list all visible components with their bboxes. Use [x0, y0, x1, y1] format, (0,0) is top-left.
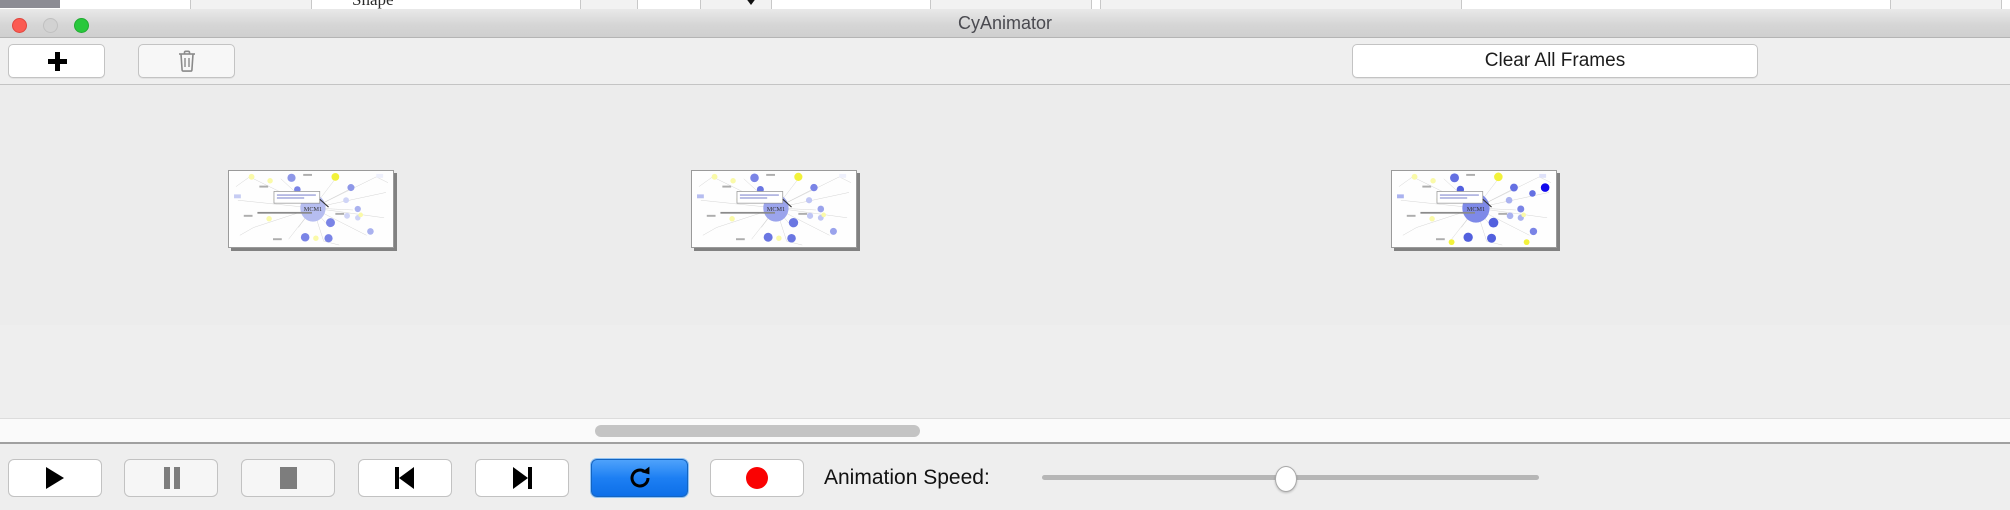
stop-icon — [280, 467, 297, 489]
frame-toolbar: Clear All Frames — [0, 38, 2010, 85]
playback-control-bar: Animation Speed: — [0, 446, 2010, 510]
timeline-scrollbar-thumb[interactable] — [595, 425, 920, 437]
loop-button[interactable] — [591, 459, 688, 497]
cyanimator-window: Shape CyAnimator Clear All Frames — [0, 0, 2010, 510]
skip-forward-icon — [512, 467, 532, 489]
clear-all-frames-label: Clear All Frames — [1485, 50, 1625, 72]
network-thumbnail-graphic: MCM1 — [1392, 171, 1556, 247]
skip-back-icon — [395, 467, 415, 489]
timeline-panel[interactable]: MCM1 — [0, 85, 2010, 325]
svg-text:MCM1: MCM1 — [1467, 206, 1485, 213]
record-icon — [746, 467, 768, 489]
plus-icon — [47, 51, 67, 71]
loop-icon — [627, 465, 653, 491]
clear-all-frames-button[interactable]: Clear All Frames — [1352, 44, 1758, 78]
trash-icon — [176, 49, 198, 73]
title-bar: CyAnimator — [0, 9, 2010, 38]
network-thumbnail-graphic: MCM1 — [692, 171, 856, 247]
delete-frame-button[interactable] — [138, 44, 235, 78]
skip-to-end-button[interactable] — [475, 459, 569, 497]
stop-button[interactable] — [241, 459, 335, 497]
frame-thumbnail-3[interactable]: MCM1 — [1391, 170, 1557, 248]
animation-speed-slider-thumb[interactable] — [1275, 466, 1297, 492]
animation-speed-label: Animation Speed: — [824, 446, 990, 510]
window-title: CyAnimator — [0, 9, 2010, 38]
play-button[interactable] — [8, 459, 102, 497]
network-thumbnail-graphic: MCM1 — [229, 171, 393, 247]
parent-window-titlebar-fragment — [0, 0, 60, 8]
pause-icon — [163, 467, 180, 489]
frame-thumbnail-2[interactable]: MCM1 — [691, 170, 857, 248]
svg-text:MCM1: MCM1 — [304, 206, 322, 213]
svg-text:MCM1: MCM1 — [767, 206, 785, 213]
frame-thumbnail-1[interactable]: MCM1 — [228, 170, 394, 248]
pause-button[interactable] — [124, 459, 218, 497]
animation-speed-slider[interactable] — [1042, 446, 1539, 510]
parent-caret-icon — [745, 0, 757, 5]
add-frame-button[interactable] — [8, 44, 105, 78]
play-icon — [46, 467, 64, 489]
record-button[interactable] — [710, 459, 804, 497]
timeline-scrollbar[interactable] — [0, 418, 2010, 444]
skip-to-start-button[interactable] — [358, 459, 452, 497]
